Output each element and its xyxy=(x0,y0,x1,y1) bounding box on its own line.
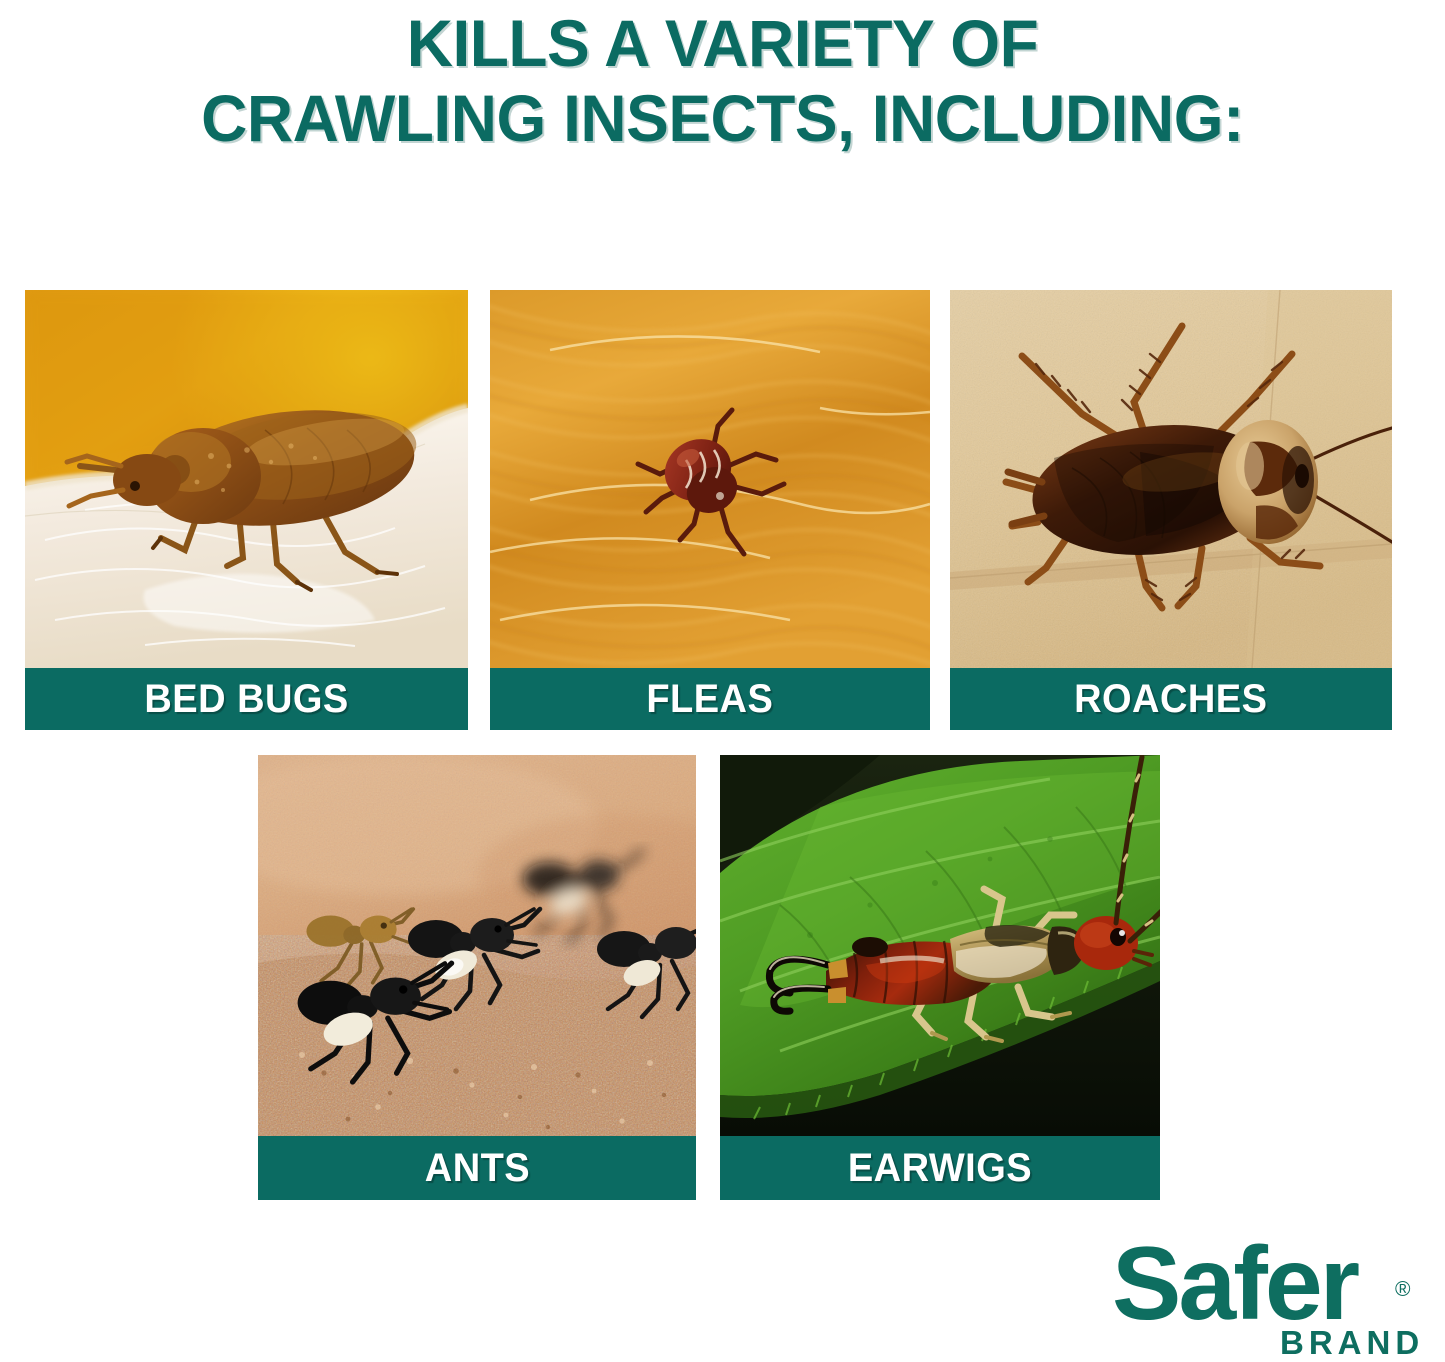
caption-bar-ants: ANTS xyxy=(258,1136,696,1200)
caption-label-fleas: FLEAS xyxy=(647,677,774,722)
ants-photo xyxy=(258,755,696,1136)
pest-tile-earwigs: EARWIGS xyxy=(720,755,1160,1200)
flea-photo xyxy=(490,290,930,668)
caption-bar-earwigs: EARWIGS xyxy=(720,1136,1160,1200)
pest-tile-ants: ANTS xyxy=(258,755,696,1200)
caption-bar-roaches: ROACHES xyxy=(950,668,1392,730)
page-title-line-2: CRAWLING INSECTS, INCLUDING: xyxy=(22,81,1424,156)
safer-brand-logo: Safer ® BRAND xyxy=(1112,1240,1432,1355)
page-title-line-1: KILLS A VARIETY OF xyxy=(22,6,1424,81)
pest-tile-roaches: ROACHES xyxy=(950,290,1392,730)
product-feature-infographic: KILLS A VARIETY OF CRAWLING INSECTS, INC… xyxy=(0,0,1445,1362)
caption-bar-bed-bugs: BED BUGS xyxy=(25,668,468,730)
logo-wordmark: Safer xyxy=(1112,1232,1357,1336)
caption-bar-fleas: FLEAS xyxy=(490,668,930,730)
caption-label-roaches: ROACHES xyxy=(1074,677,1267,722)
roach-photo xyxy=(950,290,1392,668)
bed-bug-photo xyxy=(25,290,468,668)
caption-label-bed-bugs: BED BUGS xyxy=(144,677,348,722)
caption-label-ants: ANTS xyxy=(424,1146,529,1191)
earwig-photo xyxy=(720,755,1160,1136)
pest-tile-bed-bugs: BED BUGS xyxy=(25,290,468,730)
pest-tile-fleas: FLEAS xyxy=(490,290,930,730)
registered-trademark-icon: ® xyxy=(1395,1278,1410,1302)
logo-subtext: BRAND xyxy=(1280,1326,1424,1359)
page-title: KILLS A VARIETY OF CRAWLING INSECTS, INC… xyxy=(22,6,1424,156)
caption-label-earwigs: EARWIGS xyxy=(848,1146,1032,1191)
